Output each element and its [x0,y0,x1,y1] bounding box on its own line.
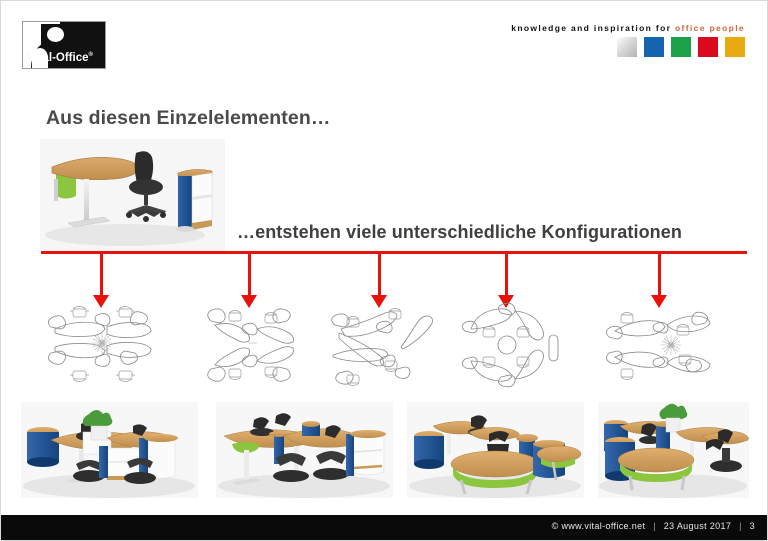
plan-art-2 [187,299,315,391]
photo-configuration-1 [21,402,198,498]
plan-art-1 [37,299,165,391]
swatch-red [698,37,718,57]
plan-configuration-5 [595,299,723,391]
hero-photo-art [40,139,225,251]
plan-art-5 [595,299,723,391]
connector-arrow-1 [100,251,103,296]
footer-separator-1: | [648,521,661,531]
plan-configuration-4 [445,299,573,391]
plan-configuration-1 [37,299,165,391]
connector-arrow-5 [658,251,661,296]
photo-configuration-4 [598,402,749,498]
photo-configuration-2 [216,402,393,498]
footer-text: © www.vital-office.net | 23 August 2017 … [552,521,755,531]
connector-arrow-2 [248,251,251,296]
tagline-plain: knowledge and inspiration for [511,23,671,33]
footer-site[interactable]: www.vital-office.net [561,521,645,531]
header-tagline: knowledge and inspiration for office peo… [511,23,745,33]
plan-configuration-3 [319,299,447,391]
plan-configuration-2 [187,299,315,391]
brand-color-swatches [617,37,745,57]
vital-office-logo[interactable]: Vital-Office® Vital-Office® [22,21,106,69]
swatch-green [671,37,691,57]
photo-art-2 [216,402,393,498]
footer-date: 23 August 2017 [664,521,731,531]
slide-footer: © www.vital-office.net | 23 August 2017 … [1,515,768,540]
red-connector-line [41,251,747,254]
logo-wordmark: Vital-Office® [28,49,103,64]
photo-configuration-3 [407,402,584,498]
photo-art-4 [598,402,749,498]
tagline-accent: office people [675,23,745,33]
slide-canvas: Vital-Office® Vital-Office® knowledge an… [0,0,768,541]
hero-product-photo [40,139,225,251]
connector-arrow-3 [378,251,381,296]
photo-art-3 [407,402,584,498]
swatch-blue [644,37,664,57]
logo-swirl-counter [47,27,64,42]
footer-page-number: 3 [750,521,755,531]
swatch-amber [725,37,745,57]
photo-art-1 [21,402,198,498]
footer-separator-2: | [734,521,747,531]
copyright-symbol: © [552,521,559,531]
plan-art-3 [319,299,447,391]
plan-art-4 [445,299,573,391]
page-title-left: Aus diesen Einzelelementen… [46,107,330,130]
connector-arrow-4 [505,251,508,296]
swatch-silver [617,37,637,57]
page-title-right: …entstehen viele unterschiedliche Konfig… [237,222,682,243]
